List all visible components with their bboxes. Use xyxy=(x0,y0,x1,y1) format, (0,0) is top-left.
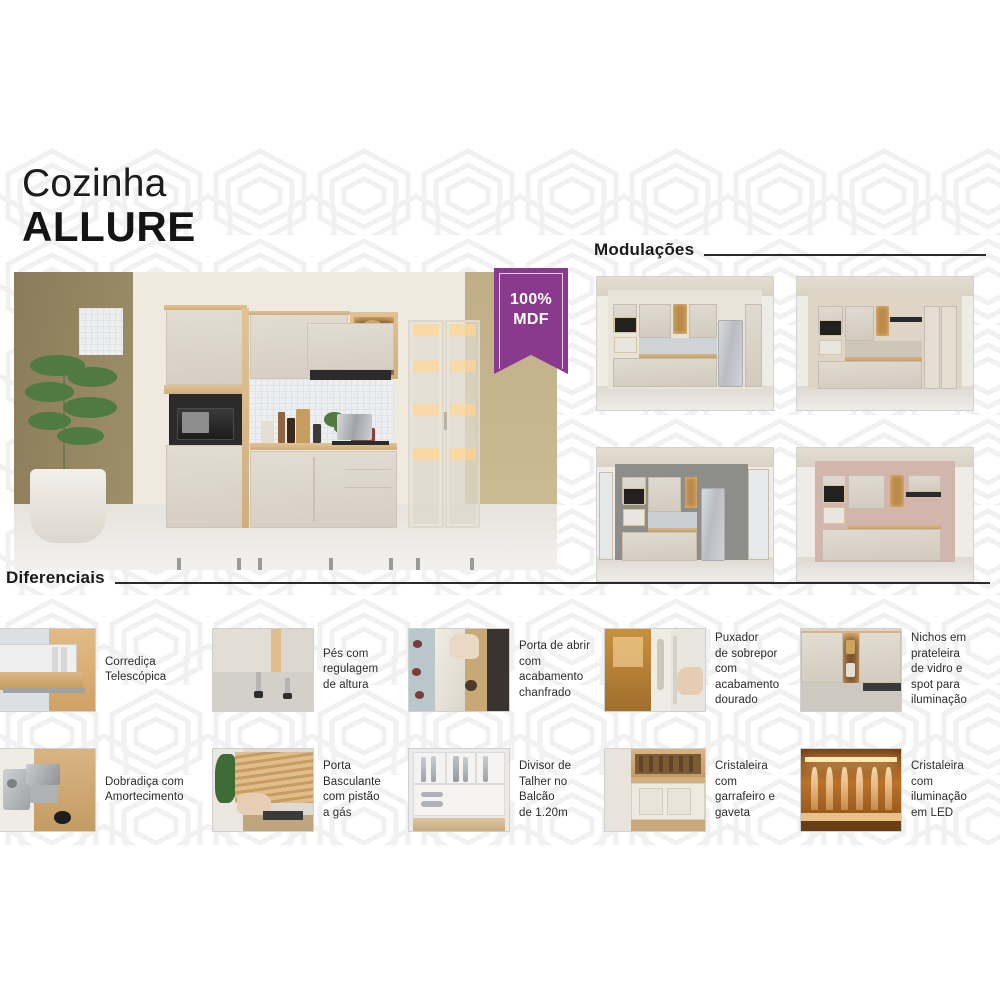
feature-thumbnail-divisor-talher xyxy=(408,748,510,832)
badge-text-line1: 100% xyxy=(494,290,568,310)
feature-thumbnail-porta-chanfrada xyxy=(408,628,510,712)
feature-thumbnail-cristaleira-led xyxy=(800,748,902,832)
feature-item: Cristaleira com garrafeiro e gaveta xyxy=(604,748,775,832)
feature-item: Porta Basculante com pistão a gás xyxy=(212,748,381,832)
section-title-diferenciais: Diferenciais xyxy=(6,568,105,588)
feature-item: Nichos em prateleira de vidro e spot par… xyxy=(800,628,967,712)
feature-thumbnail-corredica-telescopica xyxy=(0,628,96,712)
feature-thumbnail-dobradica-amortecimento xyxy=(0,748,96,832)
section-rule-diferenciais xyxy=(115,582,990,584)
feature-caption: Divisor de Talher no Balcão de 1.20m xyxy=(519,759,571,821)
section-title-modulacoes: Modulações xyxy=(594,240,694,260)
mdf-badge: 100% MDF xyxy=(494,268,568,374)
modulacao-thumbnail xyxy=(796,276,974,411)
feature-thumbnail-porta-basculante xyxy=(212,748,314,832)
feature-caption: Dobradiça com Amortecimento xyxy=(105,775,184,806)
section-rule-modulacoes xyxy=(704,254,986,256)
feature-item: Cristaleira com iluminação em LED xyxy=(800,748,967,832)
hero-kitchen-photo xyxy=(14,272,557,570)
section-header-diferenciais: Diferenciais xyxy=(6,568,990,588)
modulacao-thumbnail xyxy=(596,276,774,411)
feature-caption: Nichos em prateleira de vidro e spot par… xyxy=(911,631,967,709)
feature-thumbnail-nichos-vidro xyxy=(800,628,902,712)
feature-item: Divisor de Talher no Balcão de 1.20m xyxy=(408,748,571,832)
page-title-line2: ALLURE xyxy=(22,205,196,249)
page-title: Cozinha ALLURE xyxy=(22,163,196,249)
modulacao-thumbnail xyxy=(796,447,974,582)
feature-caption: Puxador de sobrepor com acabamento doura… xyxy=(715,631,779,709)
feature-item: Dobradiça com Amortecimento xyxy=(0,748,184,832)
feature-caption: Cristaleira com garrafeiro e gaveta xyxy=(715,759,775,821)
feature-caption: Porta Basculante com pistão a gás xyxy=(323,759,381,821)
feature-item: Puxador de sobrepor com acabamento doura… xyxy=(604,628,779,712)
feature-item: Porta de abrir com acabamento chanfrado xyxy=(408,628,590,712)
feature-thumbnail-puxador-dourado xyxy=(604,628,706,712)
badge-text-line2: MDF xyxy=(494,310,568,330)
feature-thumbnail-cristaleira-garrafeiro xyxy=(604,748,706,832)
feature-item: Pés com regulagem de altura xyxy=(212,628,378,712)
page-title-line1: Cozinha xyxy=(22,163,196,205)
feature-caption: Porta de abrir com acabamento chanfrado xyxy=(519,639,590,701)
feature-thumbnail-pes-reguladores xyxy=(212,628,314,712)
feature-caption: Corrediça Telescópica xyxy=(105,655,166,686)
feature-caption: Pés com regulagem de altura xyxy=(323,647,378,694)
feature-item: Corrediça Telescópica xyxy=(0,628,166,712)
badge-text: 100% MDF xyxy=(494,290,568,330)
modulacao-thumbnail xyxy=(596,447,774,582)
feature-caption: Cristaleira com iluminação em LED xyxy=(911,759,967,821)
section-header-modulacoes: Modulações xyxy=(594,240,986,260)
